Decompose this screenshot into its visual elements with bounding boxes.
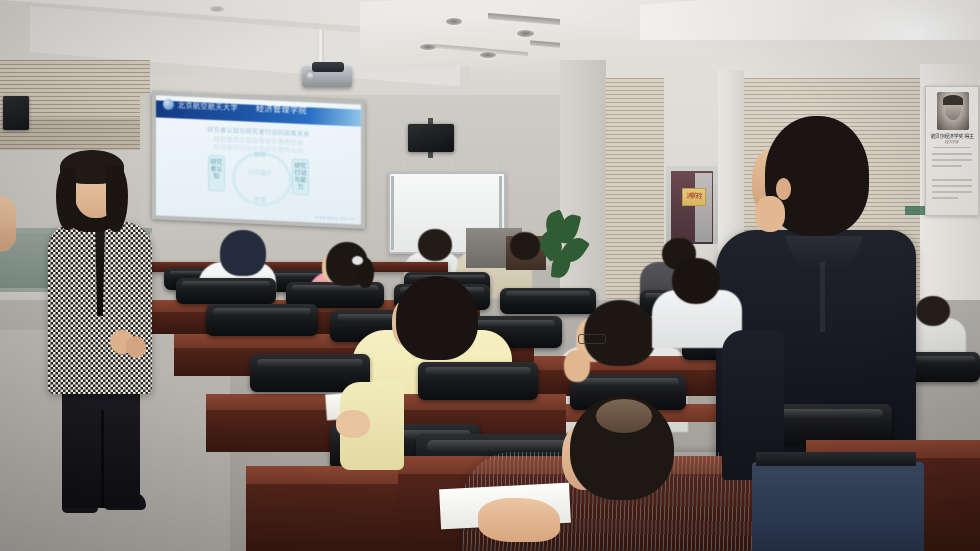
standing-attendee-belt	[756, 452, 916, 466]
poster-body-line	[932, 185, 972, 187]
chair-row-2[interactable]	[500, 288, 596, 314]
standing-attendee-jeans	[752, 462, 924, 551]
ceiling-downlight	[420, 44, 436, 50]
presenter-blazer	[48, 222, 152, 394]
attendee-back-row-1-head	[418, 229, 452, 261]
presenter-trousers	[62, 380, 140, 508]
wall-poster: 诺贝尔经济学奖 得主 经济学家	[925, 86, 979, 216]
attendee-glasses-man-hand	[564, 350, 590, 382]
attendee-hair-tie	[352, 256, 363, 265]
presenter-hand-right	[126, 336, 146, 358]
chair-row-2[interactable]	[176, 278, 276, 304]
diagram-left-box: 研究者认知	[208, 155, 225, 192]
door-glass-panel	[695, 173, 712, 242]
attendee-glasses-man-head	[584, 300, 656, 366]
attendee-back-row-2-head	[510, 232, 540, 260]
projector-lens	[305, 70, 315, 80]
poster-body-line	[932, 197, 958, 199]
poster-name-text: 诺贝尔经济学奖 得主	[926, 133, 978, 140]
wall-speaker-icon	[3, 96, 29, 130]
slide-footer: www.buaa.edu.cn	[315, 215, 355, 222]
chair-row-4[interactable]	[418, 362, 538, 400]
ceiling-downlight	[210, 6, 224, 12]
poster-body-line	[932, 191, 972, 193]
poster-body-line	[932, 179, 972, 181]
foreground-attendee-hand	[478, 498, 560, 542]
whiteboard-leg-left	[391, 176, 394, 250]
chair-row-3[interactable]	[206, 304, 318, 336]
diagram-center-label: 研究循环	[238, 167, 282, 178]
standing-attendee-ear	[776, 178, 791, 200]
attendee-far-right-head	[916, 296, 950, 326]
projector-cables	[312, 62, 344, 72]
poster-body-line	[932, 165, 962, 167]
poster-portrait-hair	[943, 95, 963, 105]
slide-school-name: 经济管理学院	[256, 103, 307, 116]
wall-monitor-icon	[408, 124, 454, 152]
eyeglasses-icon	[578, 334, 606, 344]
diagram-top-label: 指导	[238, 149, 282, 160]
door-sign: 消防栓	[682, 188, 706, 206]
attendee-yellow-polo-hand	[336, 410, 370, 438]
presenter-hair-side-left	[56, 168, 76, 230]
foreground-attendee-head	[570, 396, 674, 500]
potted-plant	[540, 212, 586, 286]
poster-portrait-photo	[937, 92, 969, 130]
ceiling-downlight	[446, 18, 462, 25]
monitor-mount-lower	[428, 151, 433, 158]
attendee-right-white-shirt-head	[672, 258, 720, 304]
university-logo-icon	[163, 99, 174, 110]
attendee-yellow-polo-head	[396, 276, 478, 360]
poster-body-line	[932, 153, 972, 155]
diagram-bottom-label: 升华	[238, 194, 282, 205]
partial-person-left-edge	[0, 196, 16, 252]
photograph-seminar-room: 北京航空航天大学 经济管理学院 研究者认知与研究者行动的因果关系 研究者的认知指…	[0, 0, 980, 551]
poster-subtitle-text: 经济学家	[926, 140, 978, 145]
standing-attendee-hand	[755, 196, 785, 232]
ceiling-downlight	[517, 30, 534, 37]
poster-body-line	[932, 159, 972, 161]
diagram-right-box: 研究行动与能力	[292, 159, 309, 196]
projection-screen: 北京航空航天大学 经济管理学院 研究者认知与研究者行动的因果关系 研究者的认知指…	[156, 95, 361, 224]
attendee-white-shirt-head	[220, 230, 266, 276]
ceiling-downlight	[480, 52, 496, 58]
poster-divider	[934, 147, 970, 148]
